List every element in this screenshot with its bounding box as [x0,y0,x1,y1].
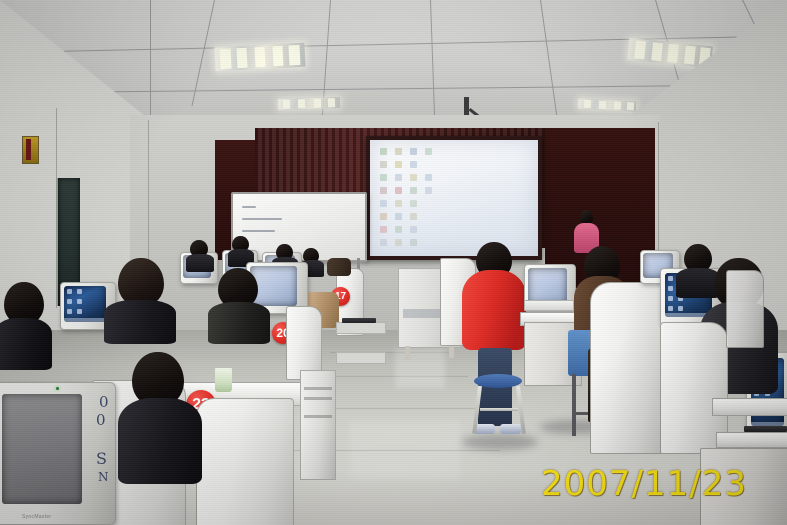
student-back-a [186,240,214,270]
student-front-left [118,352,202,482]
cubicle-partition [726,270,764,348]
date-stamp: 2007/11/23 [541,464,747,504]
ceiling-light-panel [214,43,305,72]
podium-leg [405,346,410,360]
student-head [118,258,164,306]
bag [327,258,351,276]
monitor-handwriting: 0 [96,396,109,410]
keyboard-shelf [336,352,386,364]
keyboard [524,300,574,311]
student-left-row [104,258,176,340]
keyboard-shelf [336,322,386,334]
cubicle-partition [286,306,322,380]
student-red-jacket [462,242,526,362]
wall-plaque [22,136,39,164]
student-mid-left [208,268,270,340]
stool-leg [480,408,518,411]
monitor-handwriting: N [98,472,109,483]
keyboard [342,318,376,323]
student-torso [208,302,270,344]
projection-screen-surface [370,140,538,256]
podium-leg [449,346,454,358]
paper-cup [215,368,232,392]
student-torso [0,318,52,370]
student-torso [118,398,202,484]
cubicle-partition [590,282,664,454]
computer-tower [300,370,336,480]
keyboard [744,426,787,432]
monitor-handwriting: 0 [96,414,106,428]
classroom-photo: 17 20 23 [0,0,787,525]
chair-leg [572,374,576,436]
monitor-handwriting: S [96,452,107,466]
monitor-brand-label: SyncMaster [22,514,51,520]
projected-desktop-icons [376,146,435,249]
desk-surface [712,398,787,416]
ceiling-light-panel [278,97,340,110]
cubicle-partition [196,398,294,525]
red-jacket [462,270,526,350]
shoe [500,424,521,434]
desk-surface [716,432,787,448]
student-far-left [0,282,52,366]
student-torso [104,300,176,344]
